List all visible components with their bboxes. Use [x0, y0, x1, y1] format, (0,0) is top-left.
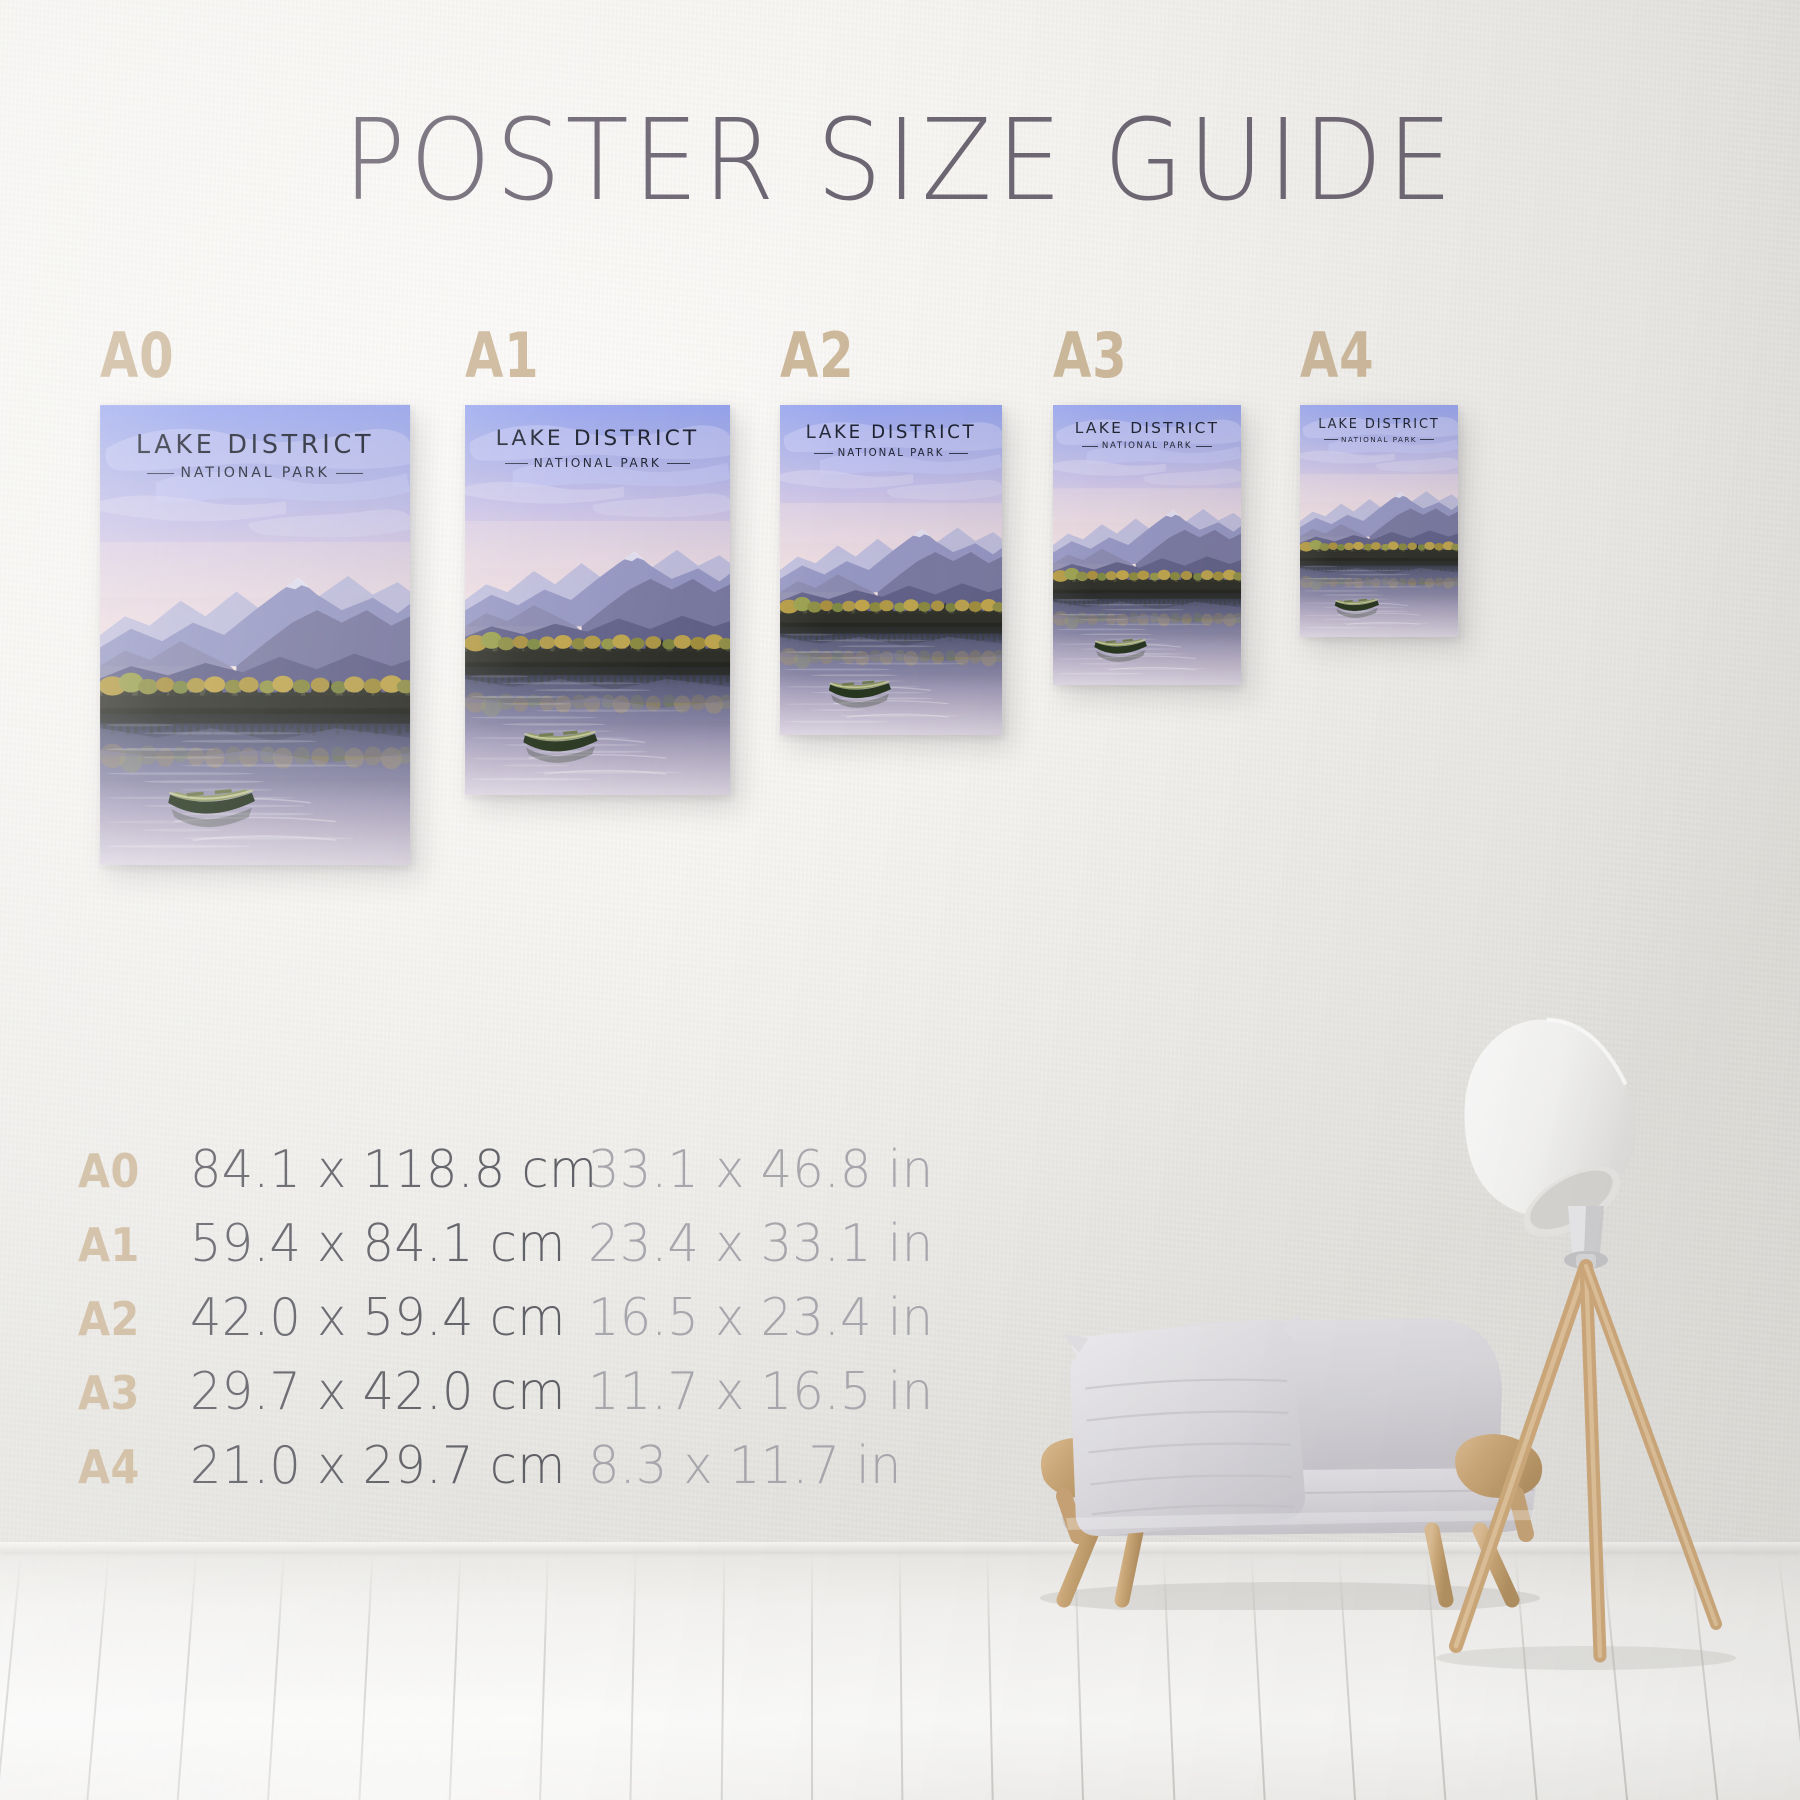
size-inches: 16.5 x 23.4 in [588, 1288, 933, 1348]
floor-plank [358, 1552, 373, 1800]
poster-artwork [1300, 405, 1458, 637]
size-table-row: A329.7 x 42.0 cm11.7 x 16.5 in [78, 1362, 952, 1436]
size-table: A084.1 x 118.8 cm33.1 x 46.8 inA159.4 x … [78, 1140, 952, 1510]
size-inches: 23.4 x 33.1 in [588, 1214, 933, 1274]
poster-size-display: A0LAKE DISTRICTNATIONAL PARKA1LAKE DISTR… [0, 0, 1800, 1000]
poster-image [1300, 405, 1458, 637]
floor-plank [899, 1552, 904, 1800]
size-table-row: A421.0 x 29.7 cm8.3 x 11.7 in [78, 1436, 952, 1510]
size-table-row: A159.4 x 84.1 cm23.4 x 33.1 in [78, 1214, 952, 1288]
poster-artwork [1053, 405, 1241, 685]
floor-plank [86, 1552, 109, 1800]
poster-artwork [100, 405, 410, 865]
size-cm: 42.0 x 59.4 cm [190, 1288, 568, 1348]
floor-plank [0, 1552, 22, 1800]
poster-a2[interactable]: LAKE DISTRICTNATIONAL PARK [780, 405, 1002, 735]
size-inches: 8.3 x 11.7 in [588, 1436, 902, 1496]
size-code: A0 [78, 1144, 179, 1198]
size-code: A2 [78, 1292, 179, 1346]
poster-a4[interactable]: LAKE DISTRICTNATIONAL PARK [1300, 405, 1458, 637]
size-cm: 21.0 x 29.7 cm [190, 1436, 568, 1496]
floor-plank [811, 1552, 813, 1800]
floor-plank [539, 1552, 549, 1800]
size-cm: 84.1 x 118.8 cm [190, 1140, 568, 1200]
size-code: A3 [78, 1366, 179, 1420]
floor-lamp [1390, 1010, 1800, 1680]
size-inches: 11.7 x 16.5 in [588, 1362, 933, 1422]
size-cm: 29.7 x 42.0 cm [190, 1362, 568, 1422]
poster-image [465, 405, 730, 795]
poster-image [1053, 405, 1241, 685]
poster-size-label-a1: A1 [465, 325, 540, 387]
floor-plank [630, 1552, 637, 1800]
floor-plank [449, 1552, 462, 1800]
poster-a0[interactable]: LAKE DISTRICTNATIONAL PARK [100, 405, 410, 865]
floor-plank [177, 1552, 198, 1800]
size-inches: 33.1 x 46.8 in [588, 1140, 933, 1200]
poster-size-label-a4: A4 [1300, 325, 1375, 387]
size-code: A4 [78, 1440, 179, 1494]
poster-image [100, 405, 410, 865]
poster-size-label-a3: A3 [1053, 325, 1128, 387]
poster-artwork [780, 405, 1002, 735]
size-table-row: A084.1 x 118.8 cm33.1 x 46.8 in [78, 1140, 952, 1214]
size-code: A1 [78, 1218, 179, 1272]
floor-plank [720, 1552, 725, 1800]
size-cm: 59.4 x 84.1 cm [190, 1214, 568, 1274]
poster-size-label-a0: A0 [100, 325, 175, 387]
poster-image [780, 405, 1002, 735]
poster-artwork [465, 405, 730, 795]
poster-a3[interactable]: LAKE DISTRICTNATIONAL PARK [1053, 405, 1241, 685]
poster-size-label-a2: A2 [780, 325, 855, 387]
floor-plank [267, 1552, 285, 1800]
poster-a1[interactable]: LAKE DISTRICTNATIONAL PARK [465, 405, 730, 795]
floor-lamp-graphic [1390, 1010, 1800, 1680]
size-table-row: A242.0 x 59.4 cm16.5 x 23.4 in [78, 1288, 952, 1362]
